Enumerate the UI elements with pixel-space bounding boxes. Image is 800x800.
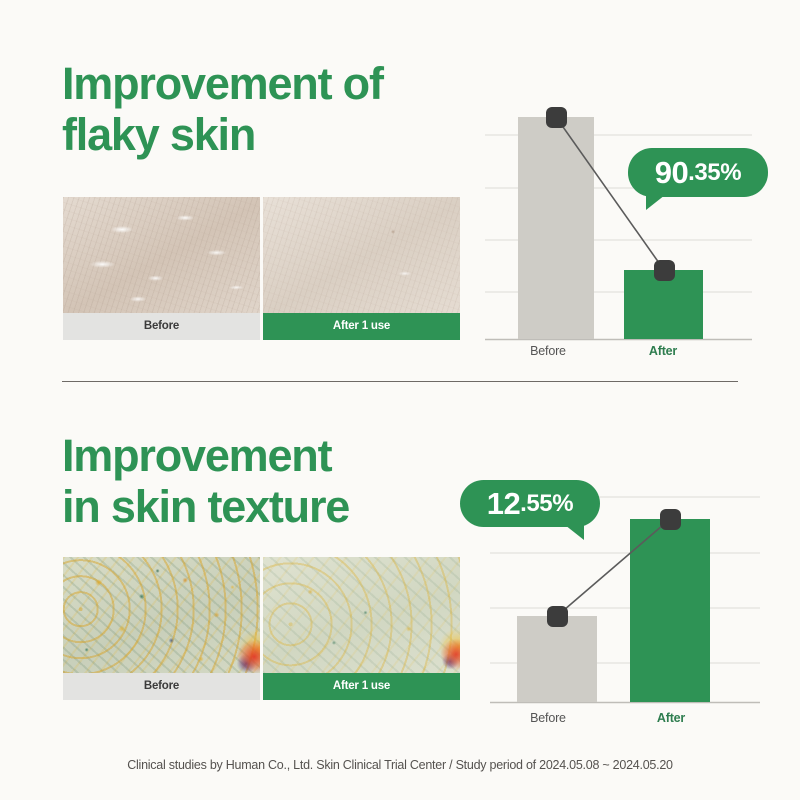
photo-caption-before: Before bbox=[63, 673, 260, 700]
photo-caption-before: Before bbox=[63, 313, 260, 340]
callout-value-integer: 12 bbox=[487, 486, 520, 522]
photo-panel-before: Before bbox=[63, 557, 260, 700]
callout-value-integer: 90 bbox=[655, 155, 688, 191]
skin-photo-before-image bbox=[63, 197, 260, 313]
chart-1-tick-after: After bbox=[612, 344, 714, 358]
photo-panel-after: After 1 use bbox=[263, 557, 460, 700]
chart-2-bar-before bbox=[517, 616, 597, 702]
photo-pair-skin-texture: Before After 1 use bbox=[63, 557, 460, 700]
chart-1-marker-after bbox=[654, 260, 675, 281]
skin-photo-after-image bbox=[263, 197, 460, 313]
photo-caption-after: After 1 use bbox=[263, 313, 460, 340]
chart-2-bar-after bbox=[630, 519, 710, 702]
section-divider bbox=[62, 381, 738, 382]
bar-chart-flaky-skin bbox=[480, 100, 780, 370]
photo-panel-after: After 1 use bbox=[263, 197, 460, 340]
texture-map-before-image bbox=[63, 557, 260, 673]
callout-tail-icon bbox=[646, 195, 665, 210]
callout-value-fraction: .55% bbox=[520, 490, 573, 518]
photo-caption-after: After 1 use bbox=[263, 673, 460, 700]
chart-2-marker-after bbox=[660, 509, 681, 530]
photo-pair-flaky-skin: Before After 1 use bbox=[63, 197, 460, 340]
chart-1-tick-before: Before bbox=[496, 344, 600, 358]
section-title-skin-texture: Improvement in skin texture bbox=[62, 430, 349, 533]
chart-1-canvas bbox=[480, 100, 780, 370]
texture-map-after-image bbox=[263, 557, 460, 673]
callout-tail-icon bbox=[565, 525, 584, 540]
callout-bubble-flaky-skin: 90.35% bbox=[628, 148, 768, 197]
chart-1-marker-before bbox=[546, 107, 567, 128]
photo-panel-before: Before bbox=[63, 197, 260, 340]
footer-disclaimer: Clinical studies by Human Co., Ltd. Skin… bbox=[0, 758, 800, 772]
callout-value-fraction: .35% bbox=[688, 159, 741, 187]
chart-2-tick-after: After bbox=[620, 711, 722, 725]
infographic-page: Improvement of flaky skin Before After 1… bbox=[0, 0, 800, 800]
callout-bubble-skin-texture: 12.55% bbox=[460, 480, 600, 527]
section-title-flaky-skin: Improvement of flaky skin bbox=[62, 58, 383, 161]
chart-2-tick-before: Before bbox=[496, 711, 600, 725]
chart-2-marker-before bbox=[547, 606, 568, 627]
chart-1-bar-before bbox=[518, 117, 594, 339]
